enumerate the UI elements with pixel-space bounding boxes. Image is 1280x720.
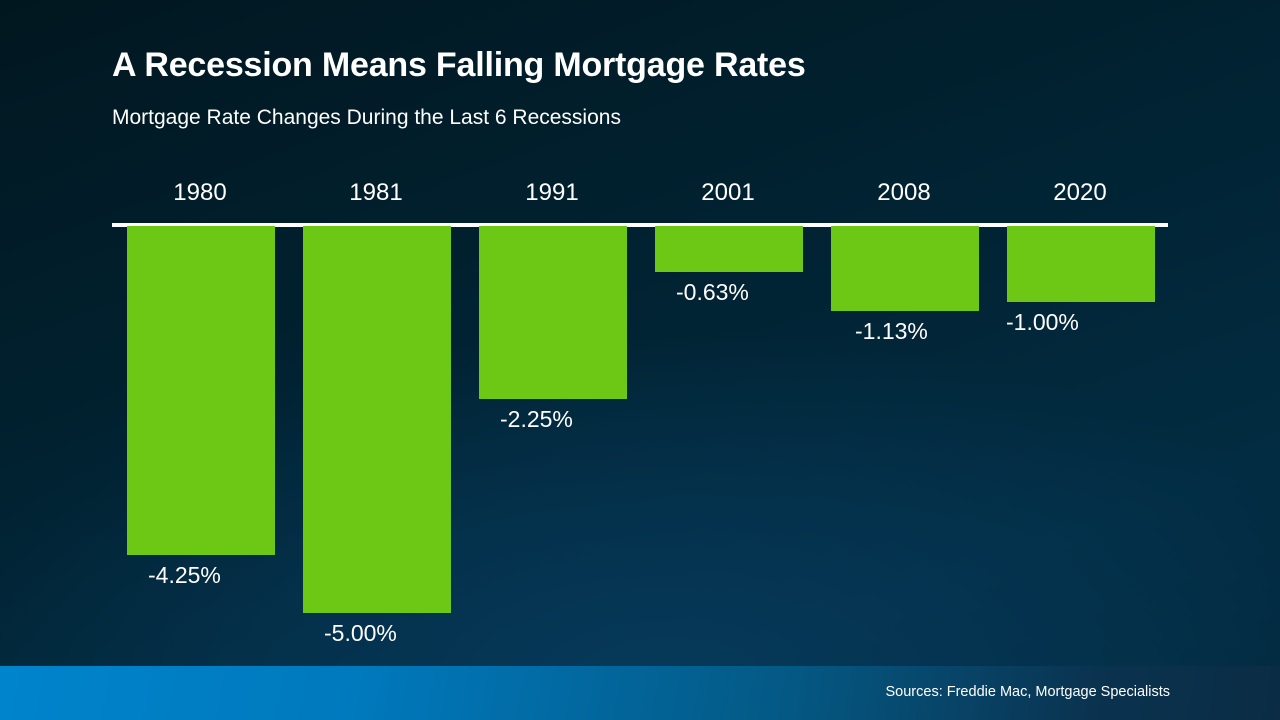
value-label-2001: -0.63%	[676, 278, 749, 306]
bar-group-1991: 1991 -2.25%	[464, 178, 640, 648]
category-label-1980: 1980	[112, 178, 288, 208]
value-label-2008: -1.13%	[855, 317, 928, 345]
bar-group-1981: 1981 -5.00%	[288, 178, 464, 648]
value-label-1980: -4.25%	[148, 561, 221, 589]
bar-2020[interactable]	[1007, 226, 1155, 302]
bar-1980[interactable]	[127, 226, 275, 555]
value-label-2020: -1.00%	[1006, 308, 1079, 336]
bar-1981[interactable]	[303, 226, 451, 613]
category-label-1981: 1981	[288, 178, 464, 208]
bar-group-1980: 1980 -4.25%	[112, 178, 288, 648]
bar-2001[interactable]	[655, 226, 803, 272]
page-subtitle: Mortgage Rate Changes During the Last 6 …	[112, 106, 621, 130]
bar-2008[interactable]	[831, 226, 979, 311]
value-label-1981: -5.00%	[324, 619, 397, 647]
bar-group-2008: 2008 -1.13%	[816, 178, 992, 648]
bar-1991[interactable]	[479, 226, 627, 399]
bar-chart: 1980 -4.25% 1981 -5.00% 1991 -2.25% 2001…	[112, 178, 1168, 648]
page-title: A Recession Means Falling Mortgage Rates	[112, 46, 806, 85]
bar-group-2001: 2001 -0.63%	[640, 178, 816, 648]
slide-canvas: A Recession Means Falling Mortgage Rates…	[0, 0, 1280, 720]
sources-text: Sources: Freddie Mac, Mortgage Specialis…	[886, 684, 1171, 700]
category-label-2008: 2008	[816, 178, 992, 208]
value-label-1991: -2.25%	[500, 405, 573, 433]
category-label-2020: 2020	[992, 178, 1168, 208]
category-label-2001: 2001	[640, 178, 816, 208]
category-label-1991: 1991	[464, 178, 640, 208]
bar-group-2020: 2020 -1.00%	[992, 178, 1168, 648]
